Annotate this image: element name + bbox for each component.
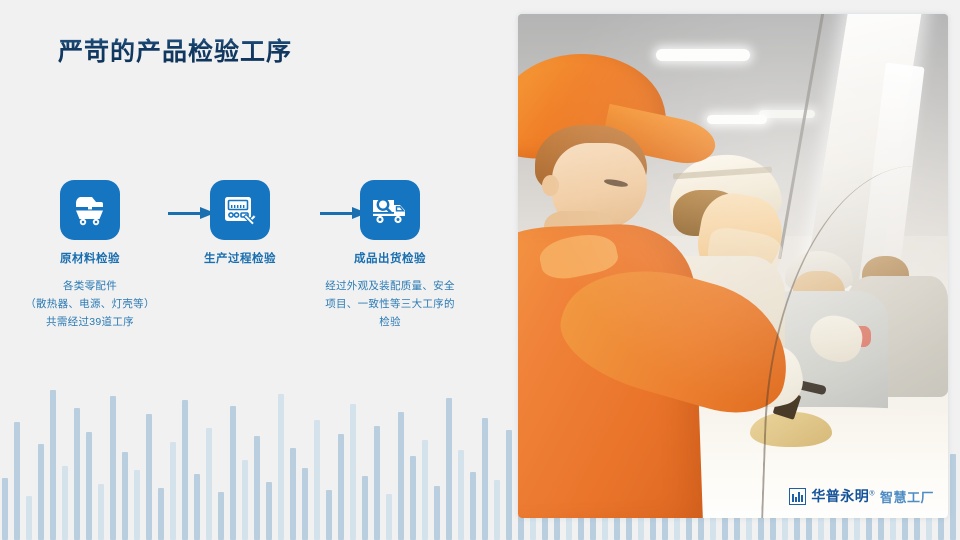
flow-step-label: 生产过程检验	[156, 250, 324, 266]
desc-line: 检验	[306, 313, 474, 331]
decorative-bar	[38, 444, 44, 540]
decorative-bar	[194, 474, 200, 540]
mining-cart-icon	[60, 180, 120, 240]
decorative-bar	[338, 434, 344, 540]
desc-line: 各类零配件	[6, 277, 174, 295]
decorative-bar	[302, 468, 308, 540]
inspection-machine-icon	[210, 180, 270, 240]
decorative-bar	[386, 494, 392, 540]
decorative-bar	[410, 456, 416, 540]
decorative-bar	[146, 414, 152, 540]
delivery-truck-search-icon	[360, 180, 420, 240]
slide-canvas: 严苛的产品检验工序 原材料检验 各类零配件 （散热器、电源、	[0, 0, 960, 540]
decorative-bar	[482, 418, 488, 540]
decorative-bar	[374, 426, 380, 540]
decorative-bar	[134, 470, 140, 540]
decorative-bar	[98, 484, 104, 540]
flow-step-finished-goods[interactable]: 成品出货检验 经过外观及装配质量、安全 项目、一致性等三大工序的 检验	[306, 180, 474, 331]
flow-step-description: 各类零配件 （散热器、电源、灯壳等） 共需经过39道工序	[6, 277, 174, 331]
flow-step-description: 经过外观及装配质量、安全 项目、一致性等三大工序的 检验	[306, 277, 474, 331]
decorative-bar	[290, 448, 296, 540]
decorative-bar	[266, 482, 272, 540]
decorative-bar	[446, 398, 452, 540]
photo-scene	[518, 14, 948, 518]
page-title-container: 严苛的产品检验工序	[58, 32, 292, 68]
decorative-bar	[242, 460, 248, 540]
desc-line: 共需经过39道工序	[6, 313, 174, 331]
decorative-bar	[326, 490, 332, 540]
desc-line: 经过外观及装配质量、安全	[306, 277, 474, 295]
decorative-bar	[494, 480, 500, 540]
brand-watermark: 华普永明® 智慧工厂	[789, 486, 934, 506]
decorative-bar	[26, 496, 32, 540]
desc-line: 项目、一致性等三大工序的	[306, 295, 474, 313]
brand-tagline: 智慧工厂	[880, 487, 934, 506]
factory-inspection-photo: 华普永明® 智慧工厂	[518, 14, 948, 518]
decorative-bar	[14, 422, 20, 540]
decorative-bar	[314, 420, 320, 540]
decorative-bar	[50, 390, 56, 540]
flow-step-label: 原材料检验	[6, 250, 174, 266]
decorative-bar	[218, 492, 224, 540]
decorative-bar	[122, 452, 128, 540]
flow-step-production-process[interactable]: 生产过程检验	[156, 180, 324, 277]
flow-step-label: 成品出货检验	[306, 250, 474, 266]
decorative-bar	[506, 430, 512, 540]
flow-step-raw-material[interactable]: 原材料检验 各类零配件 （散热器、电源、灯壳等） 共需经过39道工序	[6, 180, 174, 331]
desc-line: （散热器、电源、灯壳等）	[6, 295, 174, 313]
decorative-bar	[206, 428, 212, 540]
decorative-bar	[458, 450, 464, 540]
decorative-bar	[230, 406, 236, 540]
decorative-bar	[2, 478, 8, 540]
decorative-bar	[362, 476, 368, 540]
decorative-bar	[254, 436, 260, 540]
decorative-bar	[86, 432, 92, 540]
decorative-bar	[422, 440, 428, 540]
brand-name: 华普永明®	[811, 486, 875, 506]
decorative-bar	[158, 488, 164, 540]
decorative-bar	[434, 486, 440, 540]
decorative-bar	[278, 394, 284, 540]
photo-highlight	[518, 14, 948, 518]
decorative-bar	[182, 400, 188, 540]
decorative-bar	[110, 396, 116, 540]
hpyw-logo-mark-icon	[789, 488, 806, 505]
decorative-bar	[350, 404, 356, 540]
trademark-symbol: ®	[869, 490, 875, 497]
decorative-bar	[170, 442, 176, 540]
decorative-bar	[398, 412, 404, 540]
decorative-bar	[62, 466, 68, 540]
page-title: 严苛的产品检验工序	[58, 32, 292, 68]
brand-name-text: 华普永明	[811, 488, 869, 504]
decorative-bar	[470, 472, 476, 540]
process-flow: 原材料检验 各类零配件 （散热器、电源、灯壳等） 共需经过39道工序	[0, 180, 500, 370]
decorative-bar	[74, 408, 80, 540]
decorative-bar	[950, 454, 956, 540]
